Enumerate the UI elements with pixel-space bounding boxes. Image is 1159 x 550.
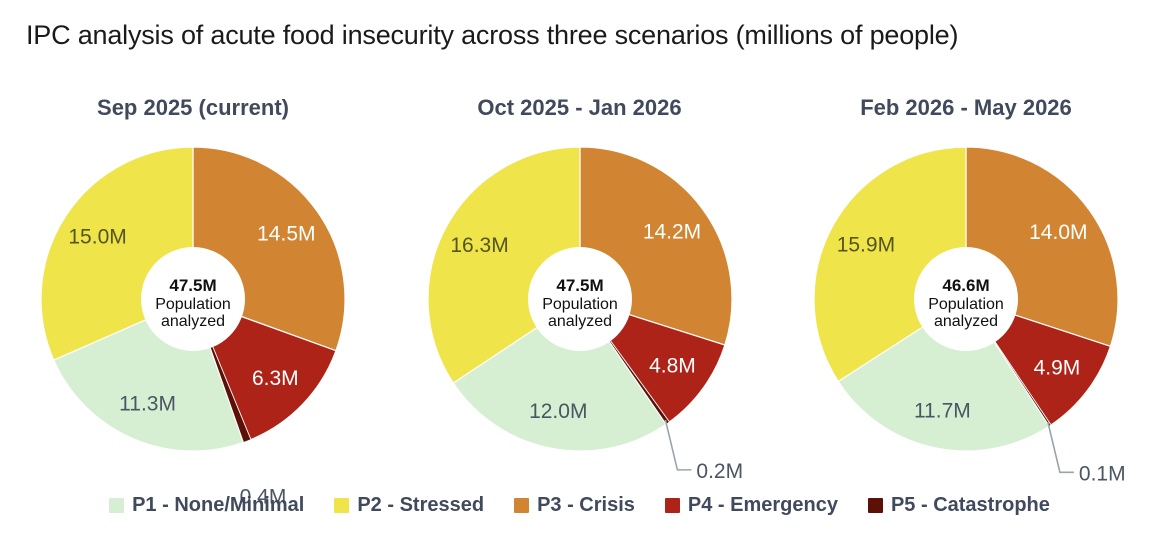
- legend-item[interactable]: P4 - Emergency: [665, 494, 838, 517]
- legend-swatch-icon: [334, 498, 349, 513]
- center-caption-line-1: Population: [155, 296, 231, 313]
- chart-legend: P1 - None/MinimalP2 - StressedP3 - Crisi…: [0, 494, 1159, 517]
- center-total-value: 46.6M: [942, 276, 989, 295]
- slice-value-label: 16.3M: [450, 234, 508, 257]
- legend-swatch-icon: [514, 498, 529, 513]
- legend-label: P2 - Stressed: [357, 494, 484, 517]
- chart-panel: Feb 2026 - May 202614.0M4.9M0.1M11.7M15.…: [773, 95, 1159, 475]
- callout-leader-line: [665, 420, 691, 470]
- legend-item[interactable]: P5 - Catastrophe: [868, 494, 1050, 517]
- slice-value-label: 14.2M: [642, 221, 700, 244]
- legend-label: P1 - None/Minimal: [132, 494, 304, 517]
- slice-value-label: 14.0M: [1029, 221, 1087, 244]
- legend-swatch-icon: [109, 498, 124, 513]
- legend-label: P4 - Emergency: [688, 494, 838, 517]
- slice-value-label: 6.3M: [252, 367, 299, 390]
- slice-value-label: 15.9M: [837, 233, 895, 256]
- slice-value-label: 4.8M: [649, 355, 696, 378]
- center-caption-line-2: analyzed: [161, 313, 225, 330]
- slice-value-label: 11.7M: [914, 400, 971, 423]
- slice-value-label: 11.3M: [119, 393, 176, 416]
- slice-value-label: 14.5M: [257, 223, 315, 246]
- callout-leader-line: [1048, 422, 1074, 472]
- panel-title: Feb 2026 - May 2026: [860, 95, 1072, 121]
- slice-value-label: 15.0M: [68, 226, 126, 249]
- panel-title: Oct 2025 - Jan 2026: [477, 95, 681, 121]
- center-caption-line-2: analyzed: [547, 313, 611, 330]
- center-caption-line-2: analyzed: [934, 313, 998, 330]
- center-total-value: 47.5M: [169, 276, 216, 295]
- donut-chart: 14.0M4.9M0.1M11.7M15.9M46.6MPopulationan…: [796, 129, 1136, 469]
- donut-chart: 14.5M6.3M0.4M11.3M15.0M47.5MPopulationan…: [23, 129, 363, 469]
- page-title: IPC analysis of acute food insecurity ac…: [26, 20, 958, 51]
- chart-panel: Oct 2025 - Jan 202614.2M4.8M0.2M12.0M16.…: [387, 95, 773, 475]
- chart-panel: Sep 2025 (current)14.5M6.3M0.4M11.3M15.0…: [0, 95, 386, 475]
- slice-value-label: 4.9M: [1034, 357, 1081, 380]
- slice-value-callout: 0.2M: [696, 460, 743, 483]
- legend-label: P5 - Catastrophe: [891, 494, 1050, 517]
- legend-swatch-icon: [868, 498, 883, 513]
- panel-title: Sep 2025 (current): [97, 95, 289, 121]
- legend-item[interactable]: P2 - Stressed: [334, 494, 484, 517]
- legend-item[interactable]: P3 - Crisis: [514, 494, 635, 517]
- charts-row: Sep 2025 (current)14.5M6.3M0.4M11.3M15.0…: [0, 95, 1159, 475]
- slice-value-callout: 0.1M: [1079, 462, 1126, 485]
- slice-value-label: 12.0M: [529, 400, 587, 423]
- center-total-value: 47.5M: [556, 276, 603, 295]
- center-caption-line-1: Population: [928, 296, 1004, 313]
- donut-chart: 14.2M4.8M0.2M12.0M16.3M47.5MPopulationan…: [410, 129, 750, 469]
- legend-label: P3 - Crisis: [537, 494, 635, 517]
- legend-item[interactable]: P1 - None/Minimal: [109, 494, 304, 517]
- center-caption-line-1: Population: [542, 296, 618, 313]
- legend-swatch-icon: [665, 498, 680, 513]
